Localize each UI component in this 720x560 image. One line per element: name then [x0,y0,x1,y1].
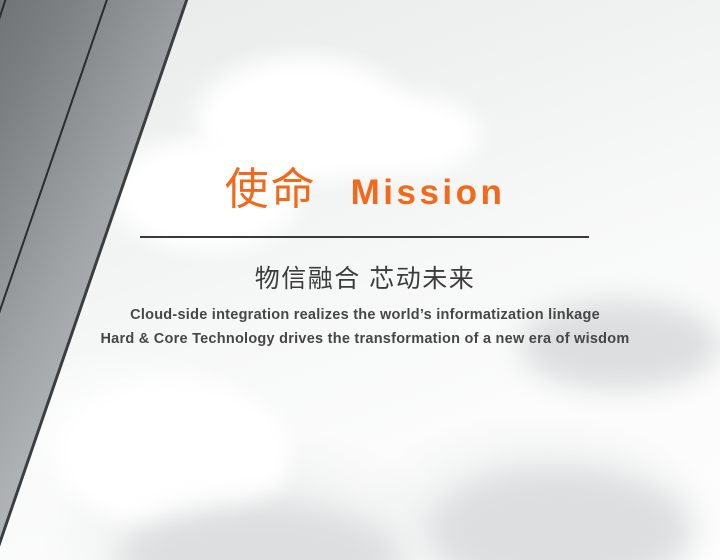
body-text: Cloud-side integration realizes the worl… [40,303,690,351]
body-line: Hard & Core Technology drives the transf… [40,327,690,351]
mission-banner: 使命 Mission 物信融合 芯动未来 Cloud-side integrat… [0,0,720,560]
banner-content: 使命 Mission 物信融合 芯动未来 Cloud-side integrat… [0,0,720,560]
subtitle: 物信融合 芯动未来 [140,259,590,295]
headline-divider [140,236,589,238]
headline-english: Mission [351,175,506,210]
body-line: Cloud-side integration realizes the worl… [40,303,690,327]
headline: 使命 Mission [140,168,590,212]
headline-chinese: 使命 [225,168,317,212]
